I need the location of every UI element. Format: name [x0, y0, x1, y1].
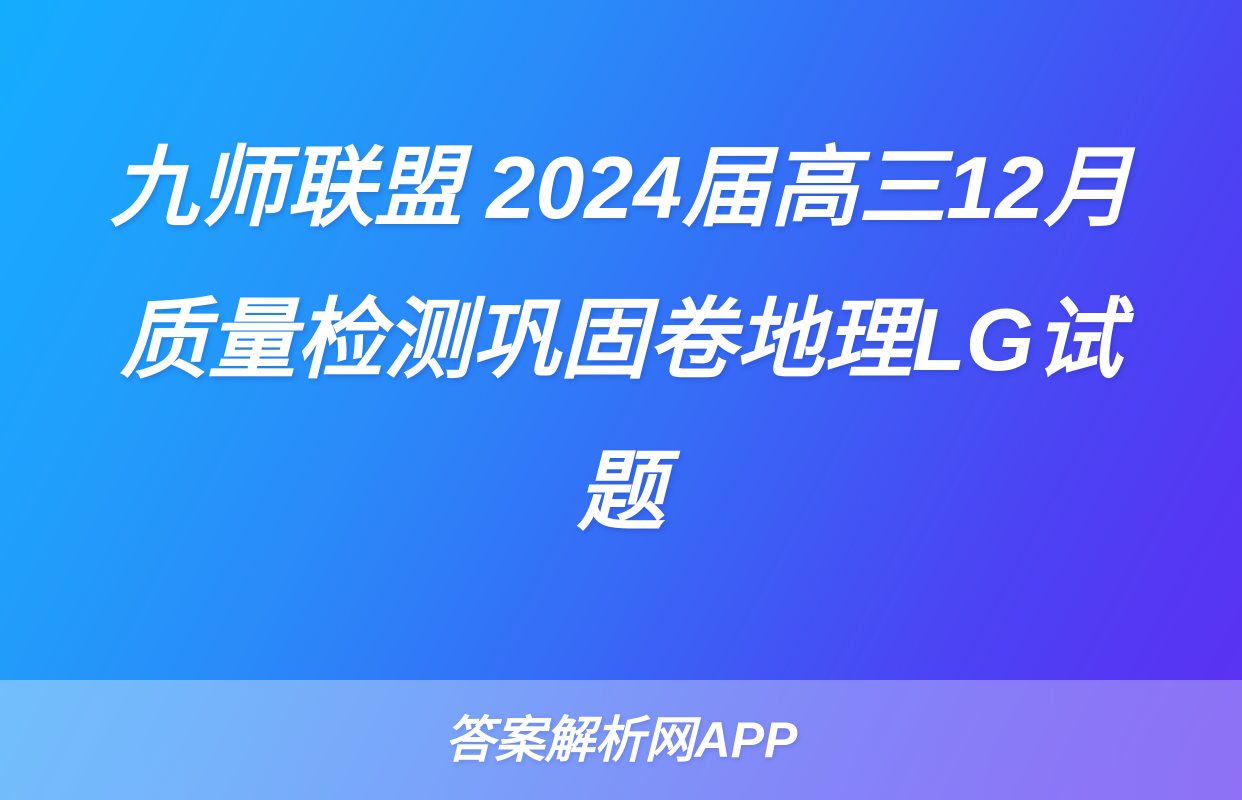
poster-canvas: 九师联盟 2024届高三12月质量检测巩固卷地理LG试题 答案解析网APP [0, 0, 1242, 800]
footer-band: 答案解析网APP [0, 680, 1242, 800]
title-region: 九师联盟 2024届高三12月质量检测巩固卷地理LG试题 [0, 0, 1242, 680]
title-line-1: 九师联盟 2024届高三12 [110, 138, 1044, 237]
page-title: 九师联盟 2024届高三12月质量检测巩固卷地理LG试题 [84, 112, 1158, 568]
app-brand-label: 答案解析网APP [445, 715, 798, 765]
